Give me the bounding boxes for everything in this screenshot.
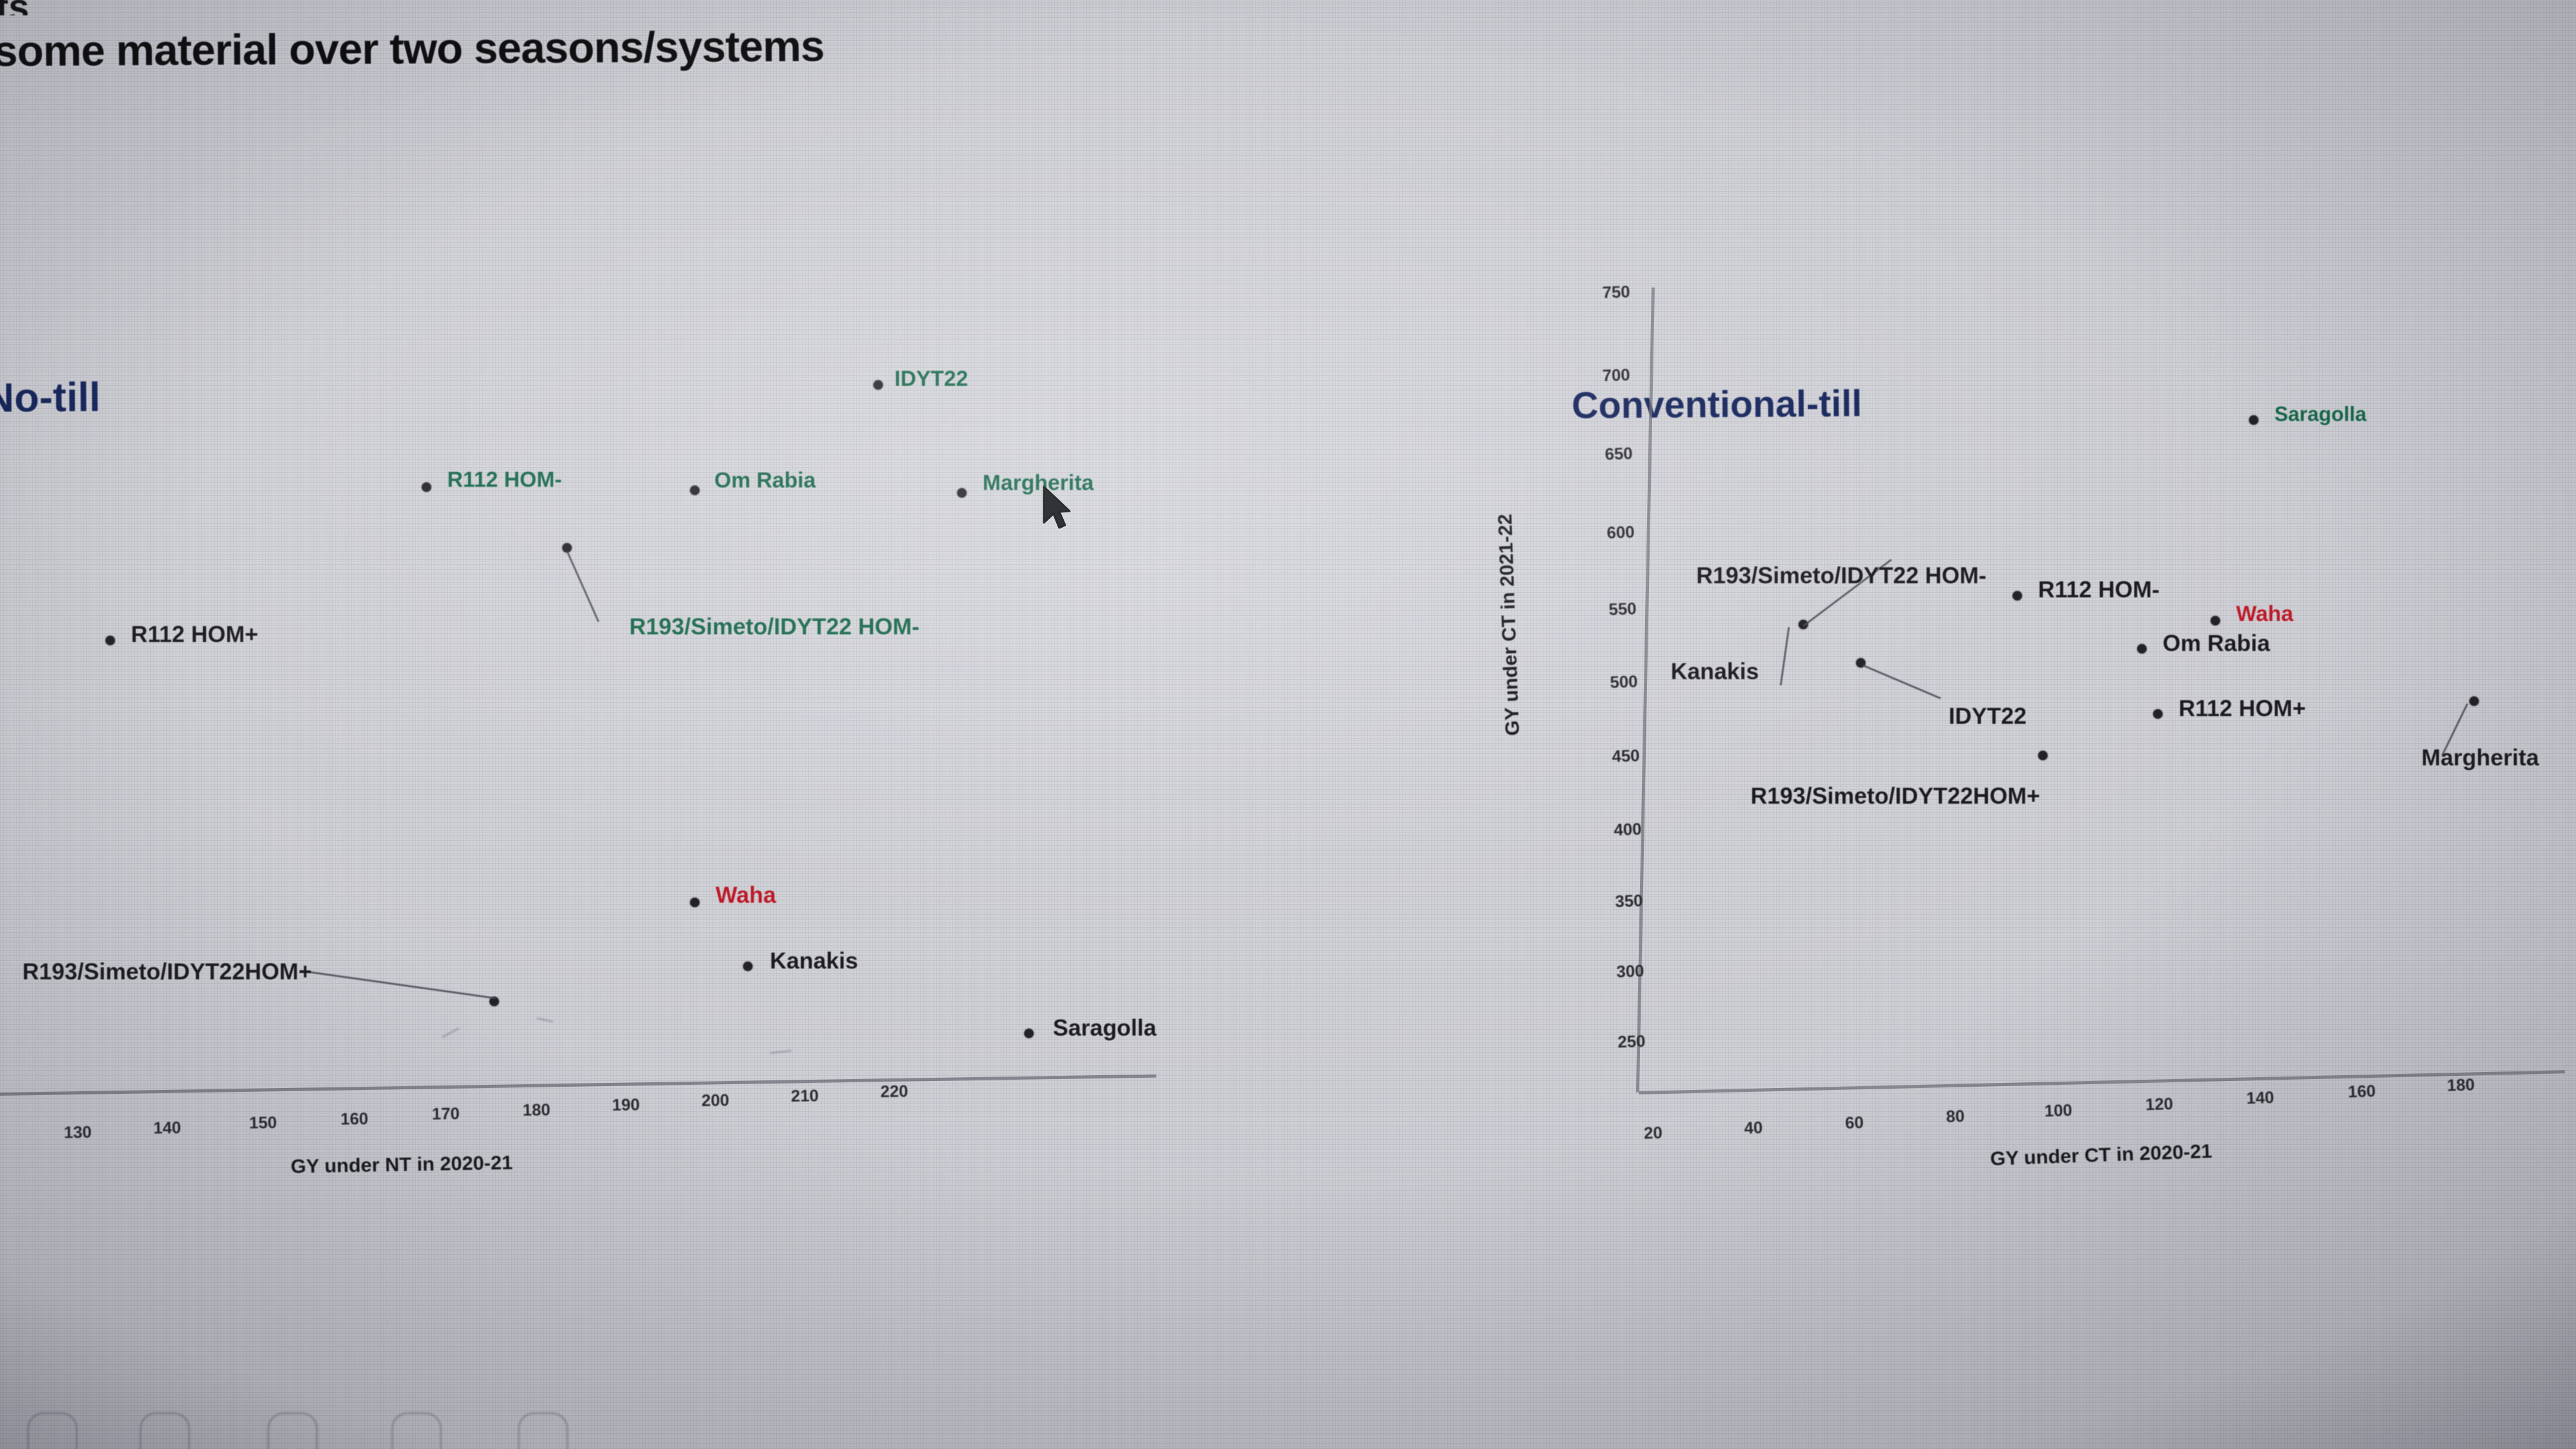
point-label: Saragolla [1053,1015,1156,1041]
data-point [2211,616,2220,625]
conventional-till-scatter-plot: Saragolla R193/Simeto/IDYT22 HOM- R112 H… [1508,294,2568,1163]
x-tick: 60 [1844,1113,1864,1133]
y-axis-label: GY under CT in 2021-22 [1494,514,1524,736]
data-point [1024,1029,1034,1038]
x-tick: 180 [523,1100,551,1121]
data-point [2153,709,2163,719]
data-point [690,486,700,495]
y-tick: 450 [1611,746,1639,766]
y-tick: 750 [1602,282,1630,302]
taskbar-app-icon-2[interactable] [139,1412,190,1449]
data-point [2469,696,2479,706]
point-label: IDYT22 [894,367,968,392]
point-label: R112 HOM- [2038,576,2159,603]
projected-slide-photo: ts some material over two seasons/system… [0,0,2576,1449]
point-label: Om Rabia [2163,630,2270,657]
cut-off-title-fragment: ts [0,0,73,15]
x-tick: 200 [701,1091,730,1111]
taskbar-app-icon-4[interactable] [391,1412,442,1449]
x-axis-label: GY under CT in 2020-21 [1989,1140,2212,1170]
leader-line [567,551,600,622]
data-point [2038,751,2048,760]
point-label: Waha [716,882,776,908]
leader-line [1862,664,1941,699]
x-tick: 190 [612,1095,640,1115]
point-label: Saragolla [2274,402,2366,426]
data-point [690,898,700,907]
point-label: Kanakis [770,947,858,974]
no-till-x-axis [0,1075,1156,1096]
x-tick: 120 [2145,1094,2173,1114]
data-point [743,962,753,971]
point-label: Om Rabia [714,468,816,493]
point-label: R112 HOM+ [2179,695,2306,722]
point-label: IDYT22 [1949,703,2027,730]
y-tick: 700 [1602,365,1630,385]
point-label: Margherita [983,471,1094,496]
data-point [957,488,967,498]
point-label: Kanakis [1671,658,1759,685]
y-tick: 600 [1606,522,1634,542]
point-label: R193/Simeto/IDYT22 HOM- [1696,562,1986,589]
x-tick: 160 [2347,1081,2375,1101]
point-label: Waha [2236,602,2293,627]
x-tick: 170 [432,1104,460,1124]
point-label: R193/Simeto/IDYT22 HOM- [629,613,919,640]
data-point [105,636,115,645]
data-point [2249,415,2258,425]
slide-title: some material over two seasons/systems [0,22,709,77]
y-tick: 250 [1617,1031,1645,1052]
x-tick: 140 [153,1118,181,1138]
taskbar[interactable] [0,1372,2576,1449]
y-tick: 350 [1614,891,1643,911]
no-till-scatter-plot: IDYT22 R112 HOM- Om Rabia Margherita R11… [0,275,1176,1169]
y-tick: 650 [1604,443,1632,464]
x-tick: 20 [1643,1123,1662,1144]
point-label: R193/Simeto/IDYT22HOM+ [22,958,312,985]
leader-line [300,970,495,999]
data-point [2012,591,2022,601]
x-axis-label: GY under NT in 2020-21 [291,1151,513,1178]
ct-x-axis [1639,1070,2565,1094]
x-tick: 40 [1744,1118,1763,1138]
y-tick: 500 [1609,671,1637,692]
x-tick: 210 [791,1086,819,1107]
x-tick: 80 [1945,1107,1965,1127]
x-tick: 140 [2246,1087,2274,1108]
x-tick: 220 [880,1082,908,1102]
x-tick: 130 [64,1123,92,1143]
data-point [873,380,883,390]
point-label: R193/Simeto/IDYT22HOM+ [1751,783,2040,809]
taskbar-app-icon-3[interactable] [267,1412,318,1449]
y-tick: 400 [1613,819,1641,839]
point-label: Margherita [2421,744,2539,771]
y-tick: 550 [1608,599,1636,619]
taskbar-app-icon-1[interactable] [27,1412,78,1449]
y-tick: 300 [1616,961,1644,981]
data-point [422,482,431,492]
x-tick: 160 [341,1109,369,1130]
point-label: R112 HOM+ [131,621,258,648]
x-tick: 150 [249,1113,277,1133]
x-tick: 180 [2446,1075,2474,1095]
point-label: R112 HOM- [447,468,562,493]
leader-line [1780,627,1790,686]
x-tick: 100 [2044,1100,2072,1121]
taskbar-app-icon-5[interactable] [517,1412,569,1449]
mouse-pointer-icon [1040,486,1073,533]
data-point [2137,644,2147,654]
